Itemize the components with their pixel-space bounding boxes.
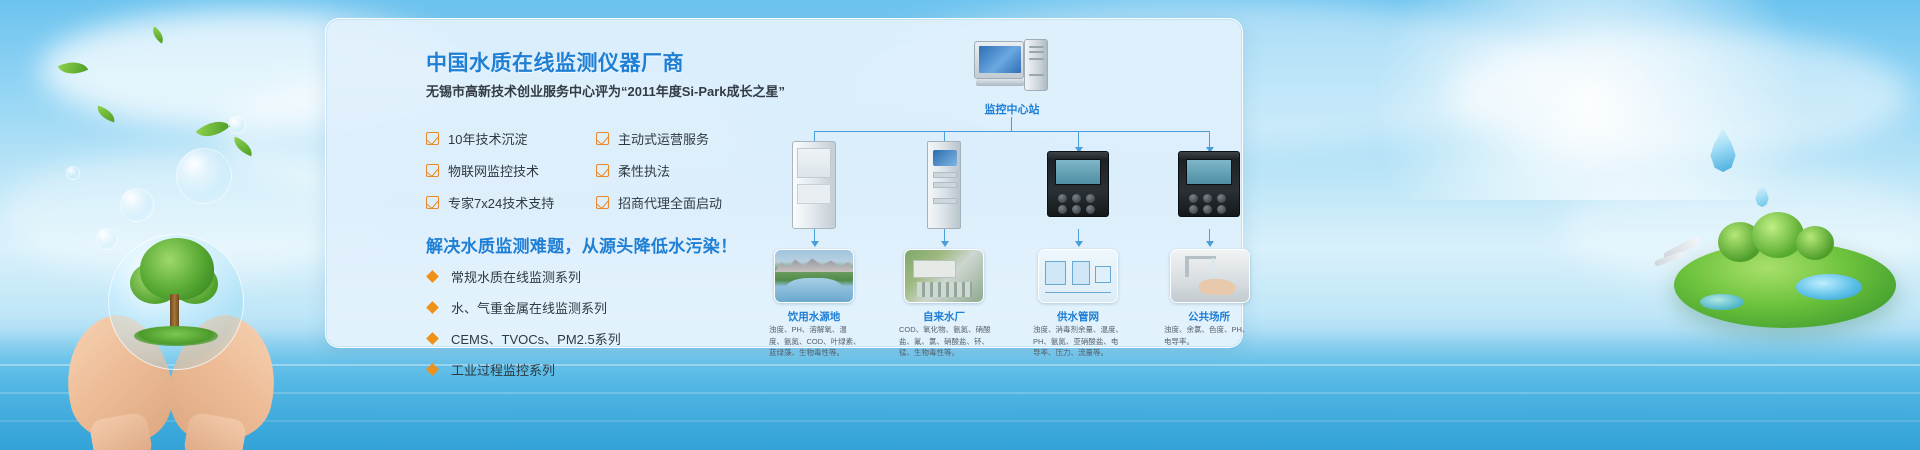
desktop-computer-icon [974, 41, 1050, 93]
center-station-label: 监控中心站 [952, 101, 1072, 117]
arrow-down-icon [1206, 241, 1214, 247]
page-title: 中国水质在线监测仪器厂商 [426, 47, 684, 77]
feature-item: 专家7x24技术支持 [426, 193, 596, 212]
water-droplet-icon [1754, 184, 1770, 207]
checkbox-checked-icon [596, 132, 609, 145]
bubble-decoration [120, 188, 154, 222]
diamond-bullet-icon [426, 270, 439, 283]
feature-row: 物联网监控技术 柔性执法 [426, 161, 746, 180]
controller-panel-icon [1178, 151, 1240, 217]
node-label: 供水管网 [1023, 309, 1133, 324]
feature-item: 物联网监控技术 [426, 161, 596, 180]
list-item: 水、气重金属在线监测系列 [428, 298, 621, 317]
analyzer-rack-icon [927, 141, 961, 229]
tap-handwash-photo [1170, 249, 1250, 303]
feature-label: 专家7x24技术支持 [448, 193, 554, 212]
checkbox-checked-icon [426, 164, 439, 177]
bubble-decoration [176, 148, 232, 204]
arrow-down-icon [941, 241, 949, 247]
system-topology-diagram: 监控中心站 [756, 19, 1244, 347]
cloud-decoration [1560, 170, 1920, 290]
sun-glow [1380, 0, 1800, 200]
node-description: 浊度、PH、溶解氧、温度、氨氮、COD、叶绿素、蓝绿藻、生物毒性等。 [769, 324, 861, 359]
feature-label: 柔性执法 [618, 161, 670, 180]
green-earth-illustration [1674, 208, 1896, 328]
water-droplet-icon [1708, 128, 1738, 172]
node-description: COD、氧化物、氨氮、硝酸盐、氟、氯、硝酸盐、钚、锰、生物毒性等。 [899, 324, 991, 359]
connector-line [1011, 117, 1012, 131]
cloud-decoration [0, 150, 380, 280]
product-line-list: 常规水质在线监测系列 水、气重金属在线监测系列 CEMS、TVOCs、PM2.5… [428, 267, 621, 391]
leaf-icon [58, 55, 88, 80]
list-item-label: CEMS、TVOCs、PM2.5系列 [451, 329, 621, 348]
list-item-label: 水、气重金属在线监测系列 [451, 298, 607, 317]
diamond-bullet-icon [426, 363, 439, 376]
checkbox-checked-icon [596, 164, 609, 177]
feature-label: 主动式运营服务 [618, 129, 709, 148]
cloud-decoration [1450, 30, 1910, 160]
page-subtitle: 无锡市高新技术创业服务中心评为“2011年度Si-Park成长之星” [426, 81, 785, 100]
arrow-down-icon [1075, 241, 1083, 247]
feature-item: 招商代理全面启动 [596, 193, 722, 212]
feature-row: 10年技术沉淀 主动式运营服务 [426, 129, 746, 148]
node-label: 公共场所 [1154, 309, 1264, 324]
feature-row: 专家7x24技术支持 招商代理全面启动 [426, 193, 746, 212]
checkbox-checked-icon [426, 132, 439, 145]
checkbox-checked-icon [426, 196, 439, 209]
feature-item: 柔性执法 [596, 161, 670, 180]
water-cabinet-icon [792, 141, 836, 229]
diamond-bullet-icon [426, 332, 439, 345]
node-label: 自来水厂 [889, 309, 999, 324]
panel-left-column: 中国水质在线监测仪器厂商 无锡市高新技术创业服务中心评为“2011年度Si-Pa… [366, 19, 746, 347]
feature-label: 招商代理全面启动 [618, 193, 722, 212]
feature-checklist: 10年技术沉淀 主动式运营服务 物联网监控技术 柔性执法 [426, 129, 746, 225]
pipe-network-diagram [1038, 249, 1118, 303]
feature-item: 主动式运营服务 [596, 129, 709, 148]
list-item: CEMS、TVOCs、PM2.5系列 [428, 329, 621, 348]
bubble-decoration [66, 166, 80, 180]
leaf-icon [95, 106, 117, 123]
banner-panel: 中国水质在线监测仪器厂商 无锡市高新技术创业服务中心评为“2011年度Si-Pa… [325, 18, 1243, 348]
leaf-icon [230, 137, 255, 157]
list-item-label: 常规水质在线监测系列 [451, 267, 581, 286]
feature-label: 物联网监控技术 [448, 161, 539, 180]
leaf-icon [196, 112, 231, 145]
bubble-decoration [228, 116, 246, 134]
water-treatment-plant-photo [904, 249, 984, 303]
arrow-down-icon [811, 241, 819, 247]
bubble-decoration [96, 228, 118, 250]
list-item-label: 工业过程监控系列 [451, 360, 555, 379]
river-landscape-photo [774, 249, 854, 303]
connector-line [814, 131, 1209, 132]
feature-item: 10年技术沉淀 [426, 129, 596, 148]
node-description: 浊度、消毒剂余量、温度、PH、氨氮、亚硝酸盐、电导率、压力、流量等。 [1033, 324, 1125, 359]
list-item: 常规水质在线监测系列 [428, 267, 621, 286]
section-headline: 解决水质监测难题，从源头降低水污染！ [426, 232, 737, 257]
diamond-bullet-icon [426, 301, 439, 314]
controller-panel-icon [1047, 151, 1109, 217]
checkbox-checked-icon [596, 196, 609, 209]
node-description: 浊度、余氯、色度、PH、电导率。 [1164, 324, 1256, 347]
feature-label: 10年技术沉淀 [448, 129, 527, 148]
list-item: 工业过程监控系列 [428, 360, 621, 379]
hands-holding-tree-illustration [56, 220, 316, 450]
leaf-icon [149, 26, 168, 43]
node-label: 饮用水源地 [759, 309, 869, 324]
